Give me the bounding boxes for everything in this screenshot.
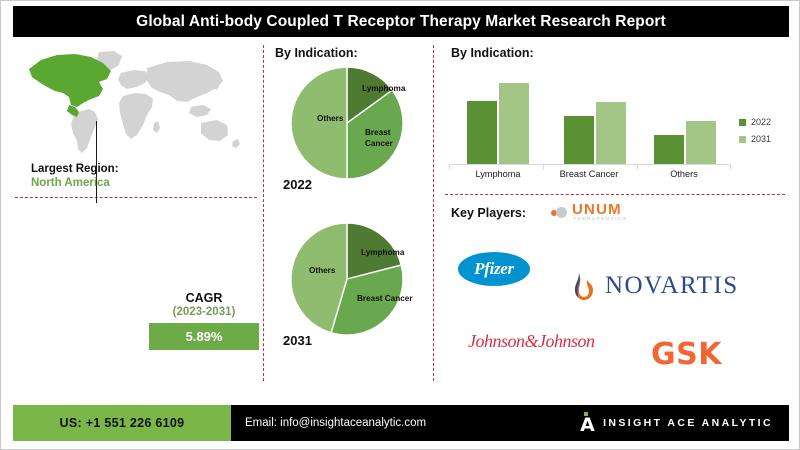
- brand-letter-a: A: [580, 416, 593, 434]
- map-new-zealand: [232, 139, 240, 148]
- bar-category-others: Others: [643, 169, 725, 179]
- map-europe: [118, 70, 150, 89]
- brand-name: INSIGHT ACE ANALYTIC: [603, 417, 773, 429]
- bar-others-2031: [686, 121, 716, 164]
- bar-tick-4: [730, 165, 731, 170]
- pie-chart-2022: Lymphoma Breast Cancer Others 2022: [277, 65, 417, 181]
- legend-item-2022: 2022: [739, 117, 771, 127]
- legend-swatch-2022: [739, 119, 746, 126]
- pie-2031-svg: Lymphoma Breast Cancer Others: [277, 221, 417, 337]
- pie-2022-label-lymphoma: Lymphoma: [362, 84, 406, 93]
- key-players-heading: Key Players:: [451, 206, 526, 220]
- largest-region-label-block: Largest Region: North America: [31, 163, 119, 189]
- logo-gsk: GSK: [651, 337, 722, 372]
- logo-johnson-and-johnson: Johnson&Johnson: [468, 331, 638, 357]
- pie-2022-svg: Lymphoma Breast Cancer Others: [277, 65, 417, 181]
- logo-pfizer: Pfizer: [458, 252, 530, 286]
- insight-ace-logo-icon: A: [580, 412, 593, 434]
- novartis-wordmark: NOVARTIS: [605, 272, 739, 300]
- cagr-value: 5.89%: [186, 329, 223, 344]
- bar-panel: By Indication: Lymphoma Breast Cancer Ot…: [433, 41, 800, 194]
- map-madagascar: [153, 121, 160, 133]
- pie-2031-label-breast-cancer: Breast Cancer: [357, 294, 413, 303]
- novartis-flame-icon: [573, 271, 595, 301]
- cagr-value-box: 5.89%: [149, 323, 259, 350]
- bar-chart: Lymphoma Breast Cancer Others: [449, 69, 731, 165]
- footer-phone-box[interactable]: US: +1 551 226 6109: [13, 405, 231, 441]
- bar-axis-baseline: [449, 164, 731, 165]
- bar-section-heading: By Indication:: [451, 46, 534, 60]
- pie-2022-label-breast-cancer: Breast: [365, 128, 391, 137]
- pie-section-heading: By Indication:: [275, 46, 358, 60]
- bar-lymphoma-2031: [499, 83, 529, 164]
- page-title: Global Anti-body Coupled T Receptor Ther…: [136, 13, 666, 31]
- unum-mark-icon: [551, 207, 568, 221]
- bar-tick-3: [637, 165, 638, 170]
- footer-brand: A INSIGHT ACE ANALYTIC: [580, 412, 773, 434]
- bar-tick-1: [449, 165, 450, 170]
- infographic-root: Global Anti-body Coupled T Receptor Ther…: [0, 0, 800, 450]
- map-southeast-asia: [189, 105, 211, 117]
- bar-group-lymphoma: [467, 83, 529, 164]
- footer-email-text[interactable]: Email: info@insightaceanalytic.com: [245, 417, 426, 429]
- largest-region-value: North America: [31, 177, 119, 189]
- bar-lymphoma-2022: [467, 101, 497, 164]
- pfizer-oval-shape: Pfizer: [458, 252, 530, 286]
- bar-category-lymphoma: Lymphoma: [457, 169, 539, 179]
- unum-tagline: THERAPEUTICS: [573, 216, 628, 221]
- pie-2022-label-breast-cancer-2: Cancer: [365, 139, 394, 148]
- pie-panel: By Indication: Lymphoma Breast Cancer Ot…: [263, 41, 433, 381]
- pie-chart-2031: Lymphoma Breast Cancer Others 2031: [277, 221, 417, 337]
- page-title-bar: Global Anti-body Coupled T Receptor Ther…: [13, 6, 789, 37]
- pfizer-wordmark: Pfizer: [474, 259, 514, 279]
- legend-label-2022: 2022: [751, 117, 771, 127]
- bar-others-2022: [654, 135, 684, 164]
- pie-2022-slice-others: [291, 67, 347, 179]
- pie-2031-label-others: Others: [309, 266, 336, 275]
- bar-group-others: [654, 121, 716, 164]
- footer-phone-text: US: +1 551 226 6109: [60, 416, 185, 430]
- pie-2031-label-lymphoma: Lymphoma: [361, 248, 405, 257]
- bar-breast-cancer-2031: [596, 102, 626, 164]
- world-map-svg: [19, 49, 251, 157]
- bar-group-breast-cancer: [564, 102, 626, 164]
- pie-2031-year: 2031: [283, 333, 312, 348]
- logo-novartis: NOVARTIS: [573, 269, 773, 303]
- largest-region-panel: Largest Region: North America: [1, 41, 263, 201]
- world-map: [19, 49, 251, 157]
- cagr-range: (2023-2031): [149, 306, 259, 318]
- unum-dot-gray-icon: [556, 207, 567, 218]
- jj-wordmark: Johnson&Johnson: [468, 331, 638, 352]
- pie-2022-year: 2022: [283, 177, 312, 192]
- bar-breast-cancer-2022: [564, 116, 594, 164]
- bar-tick-2: [543, 165, 544, 170]
- key-players-panel: Key Players: UNUM THERAPEUTICS Pfizer NO…: [433, 197, 800, 387]
- logo-unum-therapeutics: UNUM THERAPEUTICS: [551, 201, 661, 227]
- legend-swatch-2031: [739, 136, 746, 143]
- bar-legend: 2022 2031: [739, 117, 771, 151]
- map-north-america-highlight: [29, 54, 111, 107]
- divider-horizontal-right: [445, 194, 785, 195]
- map-asia: [147, 61, 223, 102]
- legend-label-2031: 2031: [751, 134, 771, 144]
- cagr-title: CAGR: [149, 291, 259, 305]
- largest-region-label: Largest Region:: [31, 163, 119, 175]
- novartis-flame-svg: [573, 271, 595, 301]
- map-australia: [201, 120, 228, 141]
- footer-bar: US: +1 551 226 6109 Email: info@insighta…: [13, 405, 789, 441]
- map-africa: [119, 93, 153, 139]
- pie-2022-label-others: Others: [317, 114, 344, 123]
- legend-item-2031: 2031: [739, 134, 771, 144]
- cagr-block: CAGR (2023-2031) 5.89%: [149, 291, 259, 350]
- gsk-wordmark: GSK: [651, 337, 722, 372]
- footer-contact-box: Email: info@insightaceanalytic.com A INS…: [231, 405, 789, 441]
- bar-category-breast-cancer: Breast Cancer: [548, 169, 630, 179]
- map-leader-line: [96, 121, 97, 203]
